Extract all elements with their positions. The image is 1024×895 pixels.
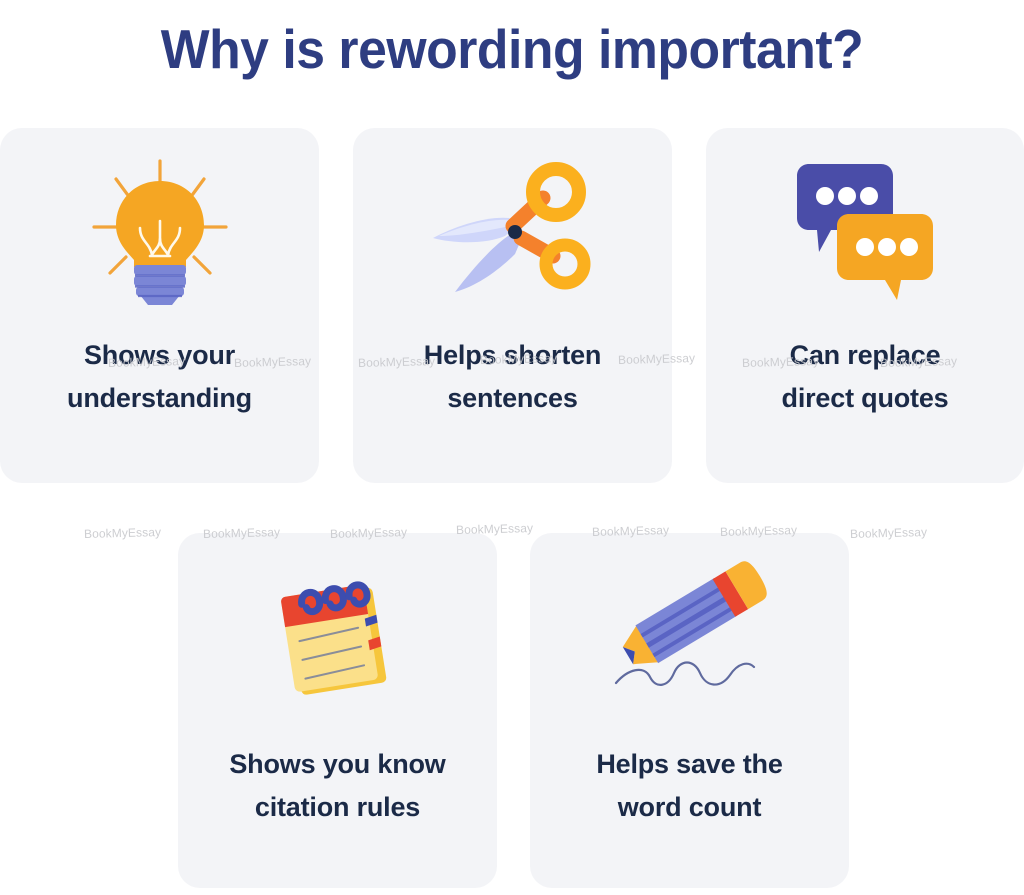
infographic-page: Why is rewording important? — [0, 0, 1024, 895]
card-label-line1: Shows your — [84, 340, 235, 370]
card-label-line2: understanding — [67, 383, 252, 413]
scissors-icon — [413, 150, 613, 310]
pencil-icon — [590, 555, 790, 715]
card-label-line1: Can replace — [790, 340, 941, 370]
speech-bubbles-icon — [765, 150, 965, 310]
card-label-line1: Shows you know — [229, 749, 445, 779]
watermark-bookmyessay: BookMyEssay — [850, 525, 927, 541]
card-label: Shows your understanding — [0, 334, 319, 420]
card-label-line1: Helps save the — [596, 749, 782, 779]
card-label: Shows you know citation rules — [178, 743, 497, 829]
spiral-notepad-icon — [238, 555, 438, 715]
card-label-line2: citation rules — [255, 792, 420, 822]
card-shows-your-understanding[interactable]: Shows your understanding — [0, 128, 319, 483]
lightbulb-icon — [60, 150, 260, 310]
card-label-line2: word count — [618, 792, 761, 822]
card-helps-save-the-word-count[interactable]: Helps save the word count — [530, 533, 849, 888]
card-helps-shorten-sentences[interactable]: Helps shorten sentences — [353, 128, 672, 483]
card-label: Helps shorten sentences — [353, 334, 672, 420]
card-label: Helps save the word count — [530, 743, 849, 829]
card-label-line2: direct quotes — [782, 383, 949, 413]
card-shows-you-know-citation-rules[interactable]: Shows you know citation rules — [178, 533, 497, 888]
watermark-bookmyessay: BookMyEssay — [84, 525, 161, 541]
card-label-line2: sentences — [447, 383, 577, 413]
page-title: Why is rewording important? — [31, 10, 994, 88]
card-label-line1: Helps shorten — [424, 340, 601, 370]
card-can-replace-direct-quotes[interactable]: Can replace direct quotes — [706, 128, 1024, 483]
card-label: Can replace direct quotes — [706, 334, 1024, 420]
